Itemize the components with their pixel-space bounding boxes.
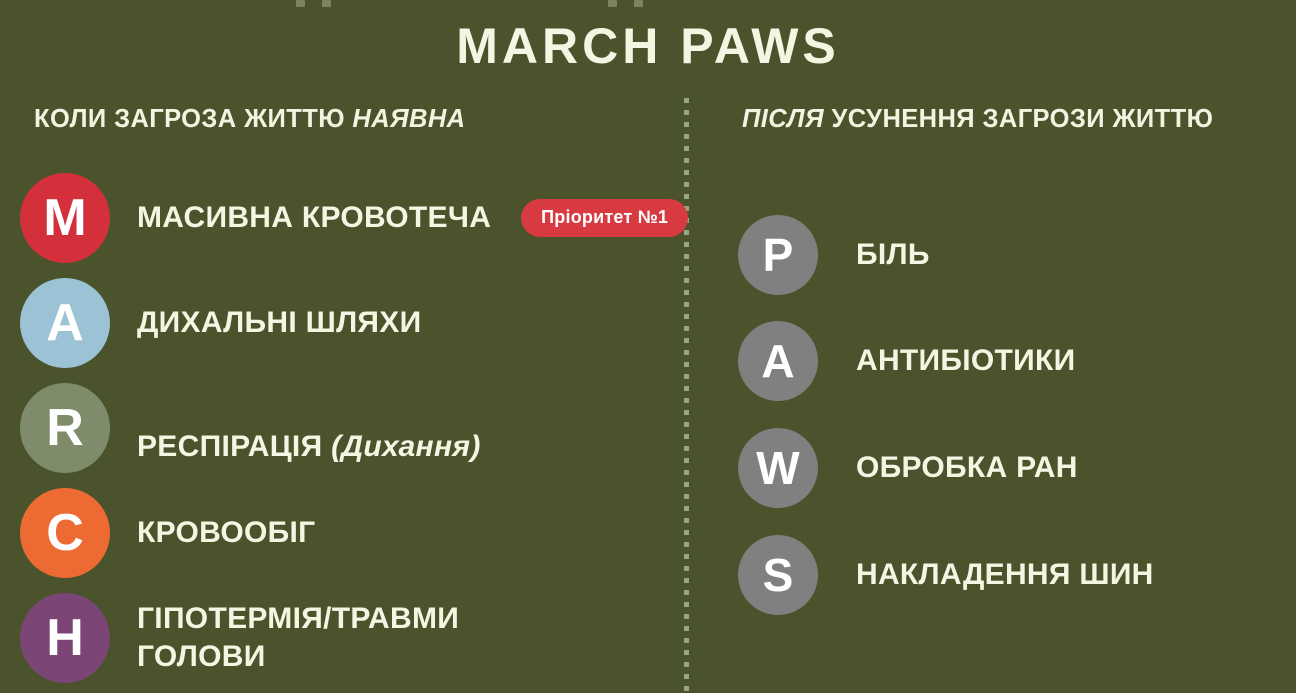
paws-label-a: АНТИБІОТИКИ [856,342,1076,380]
paws-label-w: ОБРОБКА РАН [856,449,1078,487]
paws-item-w[interactable]: W ОБРОБКА РАН [738,428,1078,508]
march-label-h: ГІПОТЕРМІЯ/ТРАВМИ ГОЛОВИ [137,600,459,676]
march-label-c: КРОВООБІГ [137,514,315,552]
paws-item-p[interactable]: P БІЛЬ [738,215,930,295]
letter-badge-w: W [738,428,818,508]
letter-badge-h: H [20,593,110,683]
march-label-m: МАСИВНА КРОВОТЕЧА [137,199,491,237]
paws-item-s[interactable]: S НАКЛАДЕННЯ ШИН [738,535,1154,615]
crop-artifact-speck [608,0,617,7]
march-item-h[interactable]: H ГІПОТЕРМІЯ/ТРАВМИ ГОЛОВИ [20,593,459,683]
march-label-a: ДИХАЛЬНІ ШЛЯХИ [137,304,421,342]
letter-badge-c: C [20,488,110,578]
right-column-heading: ПІСЛЯ УСУНЕННЯ ЗАГРОЗИ ЖИТТЮ [742,104,1213,134]
crop-artifact-speck [322,0,331,7]
letter-badge-m: M [20,173,110,263]
letter-badge-r: R [20,383,110,473]
letter-badge-a2: A [738,321,818,401]
letter-badge-s: S [738,535,818,615]
left-heading-plain: КОЛИ ЗАГРОЗА ЖИТТЮ [34,105,352,133]
letter-badge-p: P [738,215,818,295]
march-item-m[interactable]: M МАСИВНА КРОВОТЕЧА Пріоритет №1 [20,173,688,263]
right-heading-plain: УСУНЕННЯ ЗАГРОЗИ ЖИТТЮ [824,105,1213,133]
march-item-a[interactable]: A ДИХАЛЬНІ ШЛЯХИ [20,278,421,368]
paws-label-s: НАКЛАДЕННЯ ШИН [856,556,1154,594]
priority-badge: Пріоритет №1 [521,199,688,237]
march-label-r-main: РЕСПІРАЦІЯ [137,430,331,463]
march-item-r[interactable]: R РЕСПІРАЦІЯ (Дихання) [20,383,481,473]
right-heading-italic: ПІСЛЯ [742,105,824,133]
page-title: MARCH PAWS [0,16,1296,76]
crop-artifact-speck [296,0,305,7]
paws-item-a[interactable]: A АНТИБІОТИКИ [738,321,1076,401]
left-column-heading: КОЛИ ЗАГРОЗА ЖИТТЮ НАЯВНА [34,104,465,134]
left-heading-italic: НАЯВНА [352,105,465,133]
march-item-c[interactable]: C КРОВООБІГ [20,488,315,578]
paws-label-p: БІЛЬ [856,236,930,274]
march-label-r: РЕСПІРАЦІЯ (Дихання) [137,390,481,466]
crop-artifact-speck [634,0,643,7]
letter-badge-a: A [20,278,110,368]
march-label-r-note: (Дихання) [331,430,481,463]
